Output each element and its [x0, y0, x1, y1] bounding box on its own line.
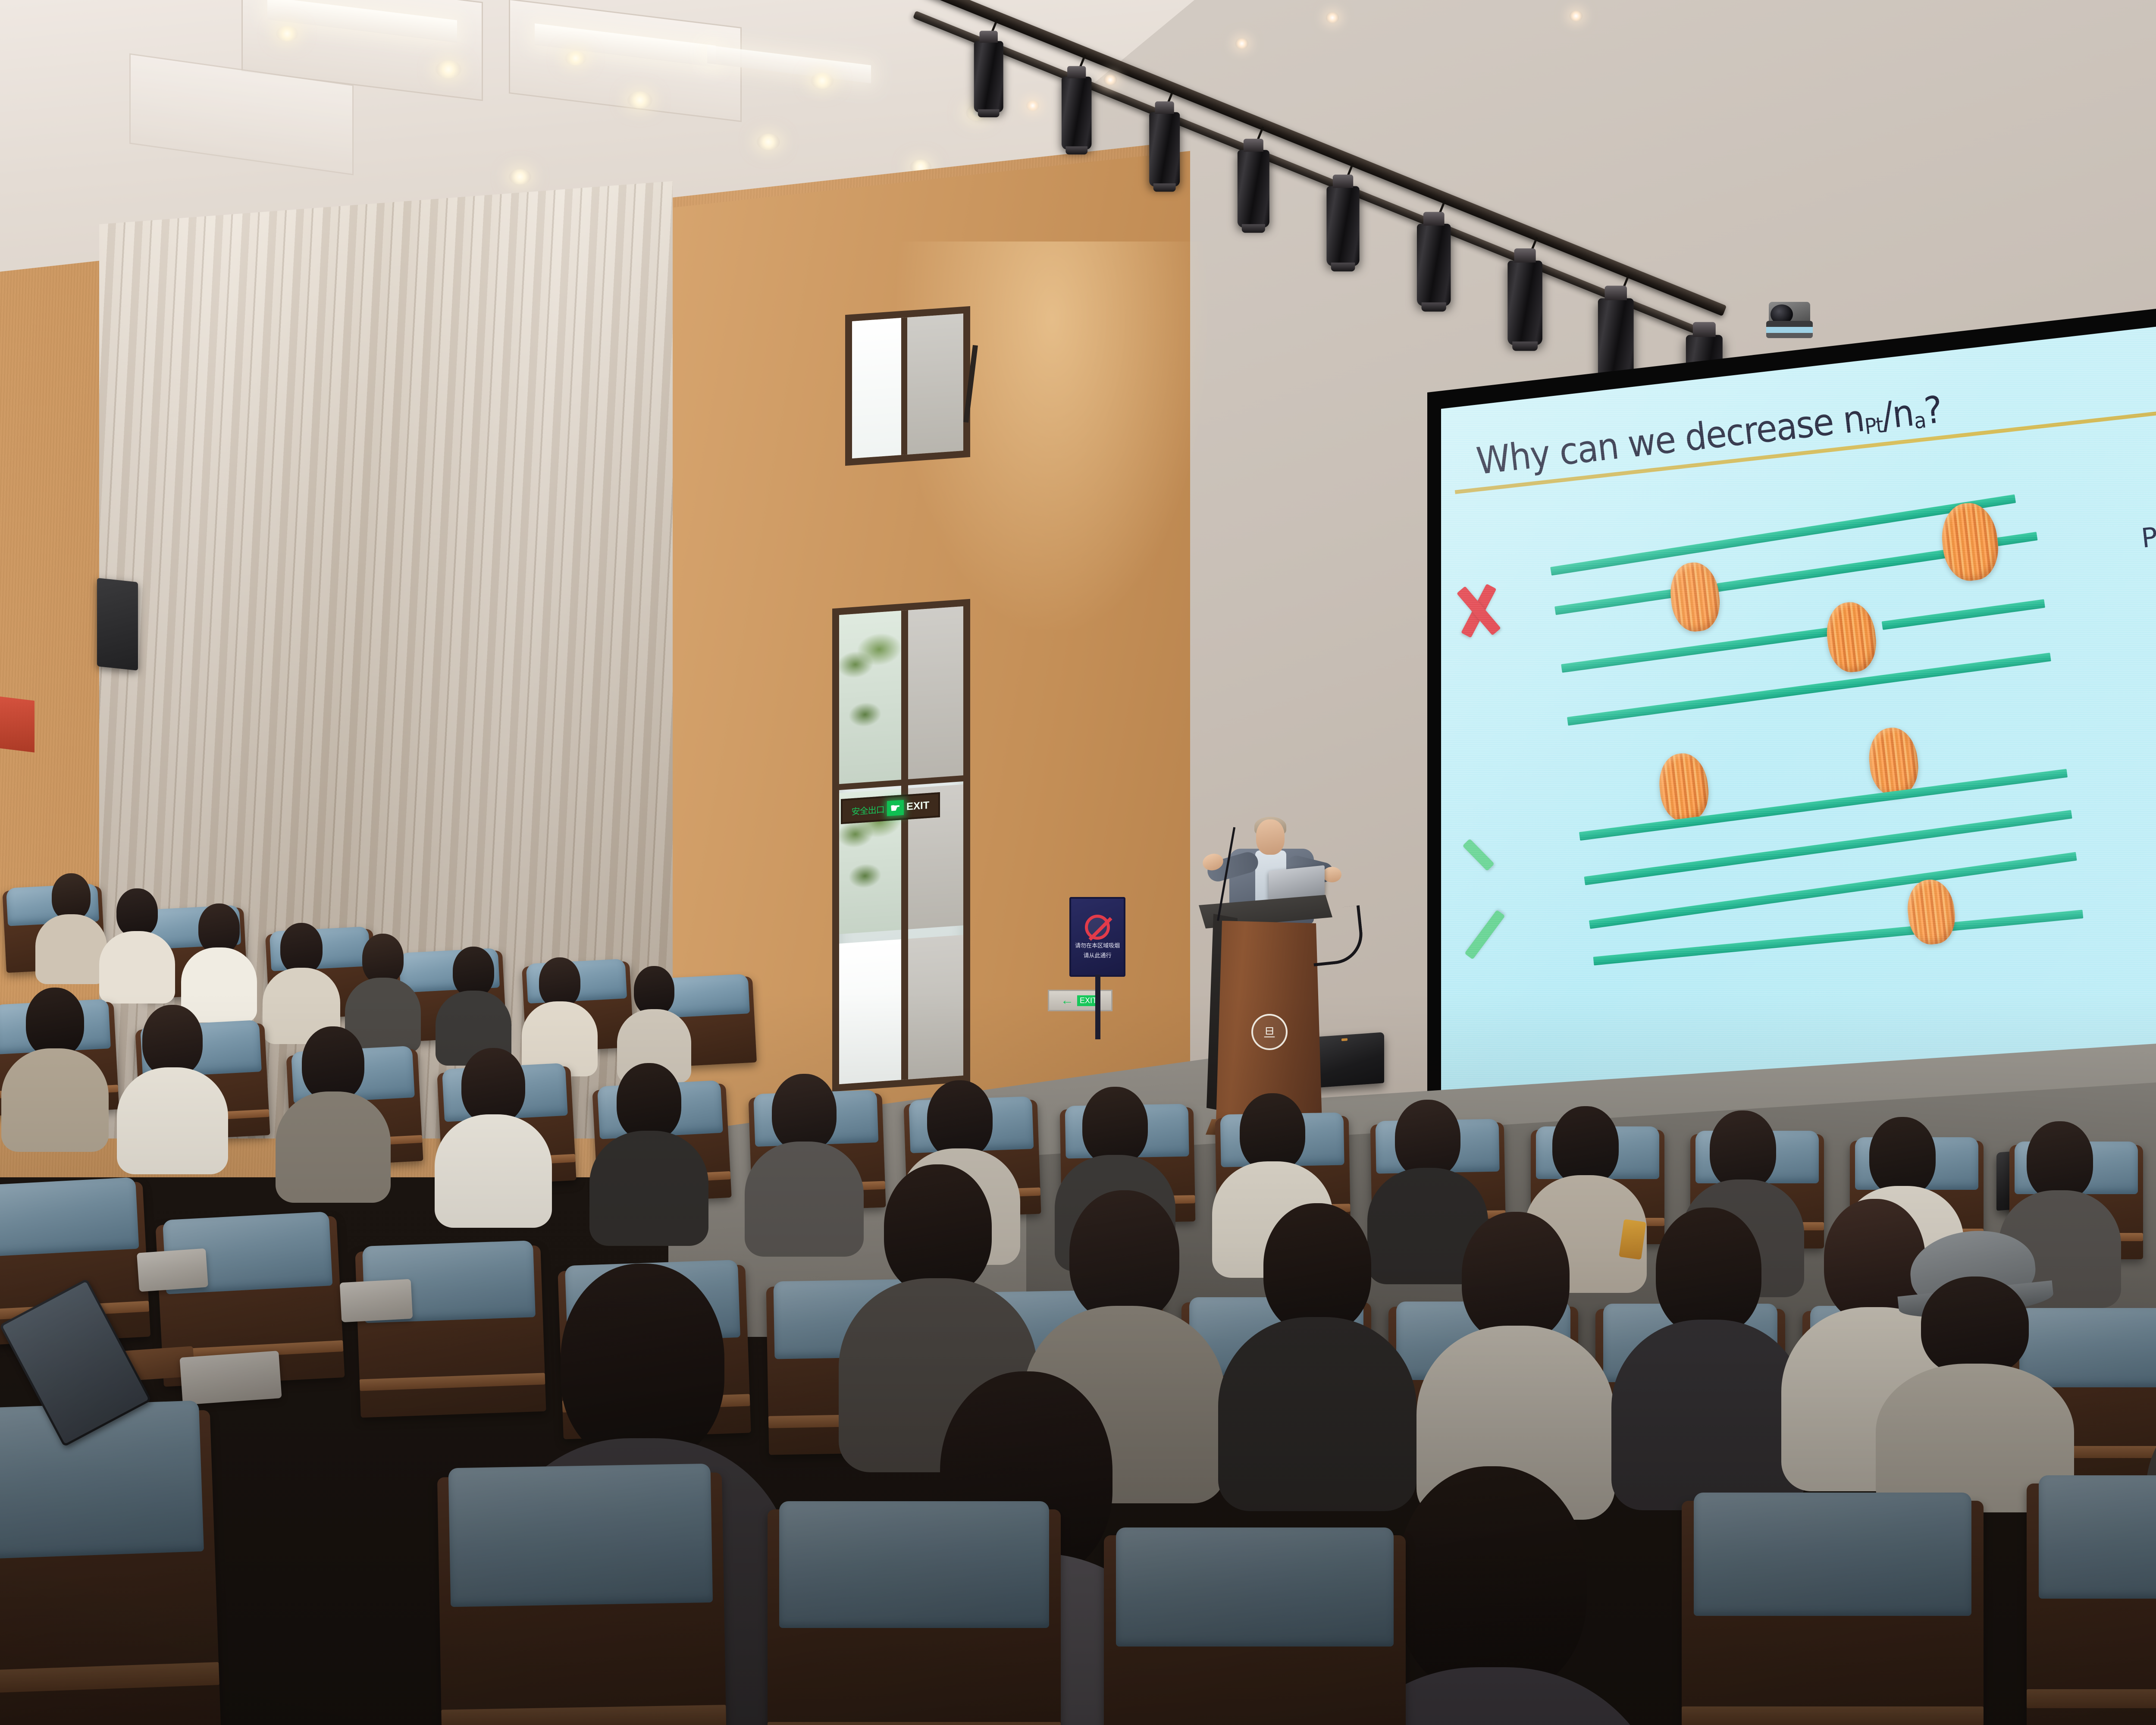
- audience-member: [634, 966, 674, 1015]
- pt-nanoparticle: [1667, 560, 1723, 634]
- audience-member-foreground: [561, 1264, 724, 1462]
- label-prefix: Pt: [2140, 519, 2156, 554]
- check-mark-icon: [1479, 811, 1545, 873]
- audience-member: [302, 1026, 364, 1101]
- cross-mark-icon: [1448, 580, 1509, 641]
- audience-member-foreground: [1397, 1466, 1587, 1695]
- audience-member: [927, 1080, 993, 1158]
- audience-member: [52, 873, 91, 920]
- exit-pictogram: ☛: [887, 800, 904, 816]
- audience-member: [280, 923, 323, 974]
- zeolite-line: [1584, 810, 2072, 885]
- audience-member: [1263, 1203, 1371, 1333]
- seat-foreground: [1682, 1501, 1984, 1725]
- slide-title-prefix: Why can we decrease n: [1474, 397, 1866, 483]
- audience-member: [1656, 1207, 1761, 1335]
- audience-member: [1552, 1106, 1619, 1185]
- notice-sign-board: 请勿在本区域吸烟 请从此通行: [1069, 897, 1125, 977]
- audience-member: [116, 888, 158, 937]
- audience-member: [1462, 1212, 1570, 1341]
- upper-window: [845, 306, 970, 466]
- audience-member: [1869, 1117, 1936, 1195]
- stage-light: [1326, 186, 1359, 266]
- stage-light: [974, 41, 1003, 113]
- audience-member: [198, 903, 240, 953]
- audience-member: [1082, 1087, 1148, 1164]
- pt-nanoparticle: [1905, 877, 1958, 947]
- pt-nanoparticle: [1866, 725, 1921, 798]
- exit-sign-chinese-label: 安全出口: [852, 803, 884, 817]
- sign-stand-pole: [1095, 975, 1100, 1039]
- seat-foreground: [1104, 1535, 1406, 1725]
- ptz-camera: [1764, 302, 1815, 342]
- university-seal: 旦: [1251, 1014, 1288, 1050]
- stage-light: [1507, 260, 1542, 345]
- wall-mounted-speaker: [97, 578, 138, 671]
- notice-sign-line1: 请勿在本区域吸烟: [1075, 942, 1120, 950]
- zeolite-line: [1717, 546, 1970, 592]
- audience-member: [26, 988, 84, 1057]
- audience-member: [2027, 1121, 2093, 1200]
- seat-armrest: [137, 1248, 208, 1292]
- stage-light: [1238, 150, 1269, 228]
- seat-armrest: [340, 1279, 413, 1323]
- exit-door-window: [832, 599, 970, 1091]
- audience-member-with-cap: [1921, 1276, 2029, 1376]
- stage-light: [1417, 224, 1451, 306]
- pt-nanoparticle: [1656, 751, 1712, 824]
- stage-light: [1062, 77, 1092, 150]
- notice-sign-line2: 请从此通行: [1083, 952, 1111, 960]
- audience-member: [539, 957, 580, 1007]
- slide-title-sub-pt: Pt: [1863, 412, 1884, 439]
- fire-equipment-box: [0, 696, 34, 753]
- seat-foreground: [2027, 1483, 2156, 1725]
- seat-foreground: [768, 1509, 1061, 1725]
- stage-light: [1149, 112, 1180, 187]
- audience-member: [884, 1164, 992, 1294]
- zeolite-line: [1882, 599, 2045, 630]
- audience-member: [1395, 1100, 1460, 1177]
- seat-foreground: [437, 1472, 727, 1725]
- exit-sign-english-label: EXIT: [906, 800, 929, 813]
- university-seal-glyph: 旦: [1263, 1023, 1275, 1041]
- zeolite-diagram: Pt in zeolite crystals Pt on zeolite cry…: [1431, 425, 2156, 1038]
- zeolite-line: [1561, 624, 1857, 673]
- audience-member: [461, 1048, 525, 1123]
- audience-member: [362, 934, 404, 984]
- audience-member: [453, 947, 494, 997]
- lecture-hall-photo: 安全出口 ☛ EXIT ← EXIT 请勿在本区域吸烟 请从此通行: [0, 0, 2156, 1725]
- audience-member: [617, 1063, 681, 1140]
- audience-member: [142, 1005, 203, 1076]
- audience-member: [1240, 1093, 1305, 1171]
- seat: [355, 1245, 546, 1418]
- slide-title-mid: /n: [1880, 391, 1916, 438]
- audience-member: [1710, 1110, 1776, 1189]
- audience-member: [772, 1074, 837, 1151]
- label-pt-in-zeolite: Pt in zeolite crystals: [2140, 494, 2156, 554]
- notice-sign-stand: 请勿在本区域吸烟 请从此通行: [1069, 897, 1125, 1039]
- audience-member: [1069, 1190, 1179, 1322]
- pt-nanoparticle: [1824, 600, 1879, 674]
- zeolite-line: [1579, 769, 2068, 841]
- seat-armrest: [179, 1351, 282, 1405]
- zeolite-line: [1567, 652, 2051, 725]
- seat-foreground: [0, 1410, 221, 1725]
- no-smoking-icon: [1085, 915, 1110, 940]
